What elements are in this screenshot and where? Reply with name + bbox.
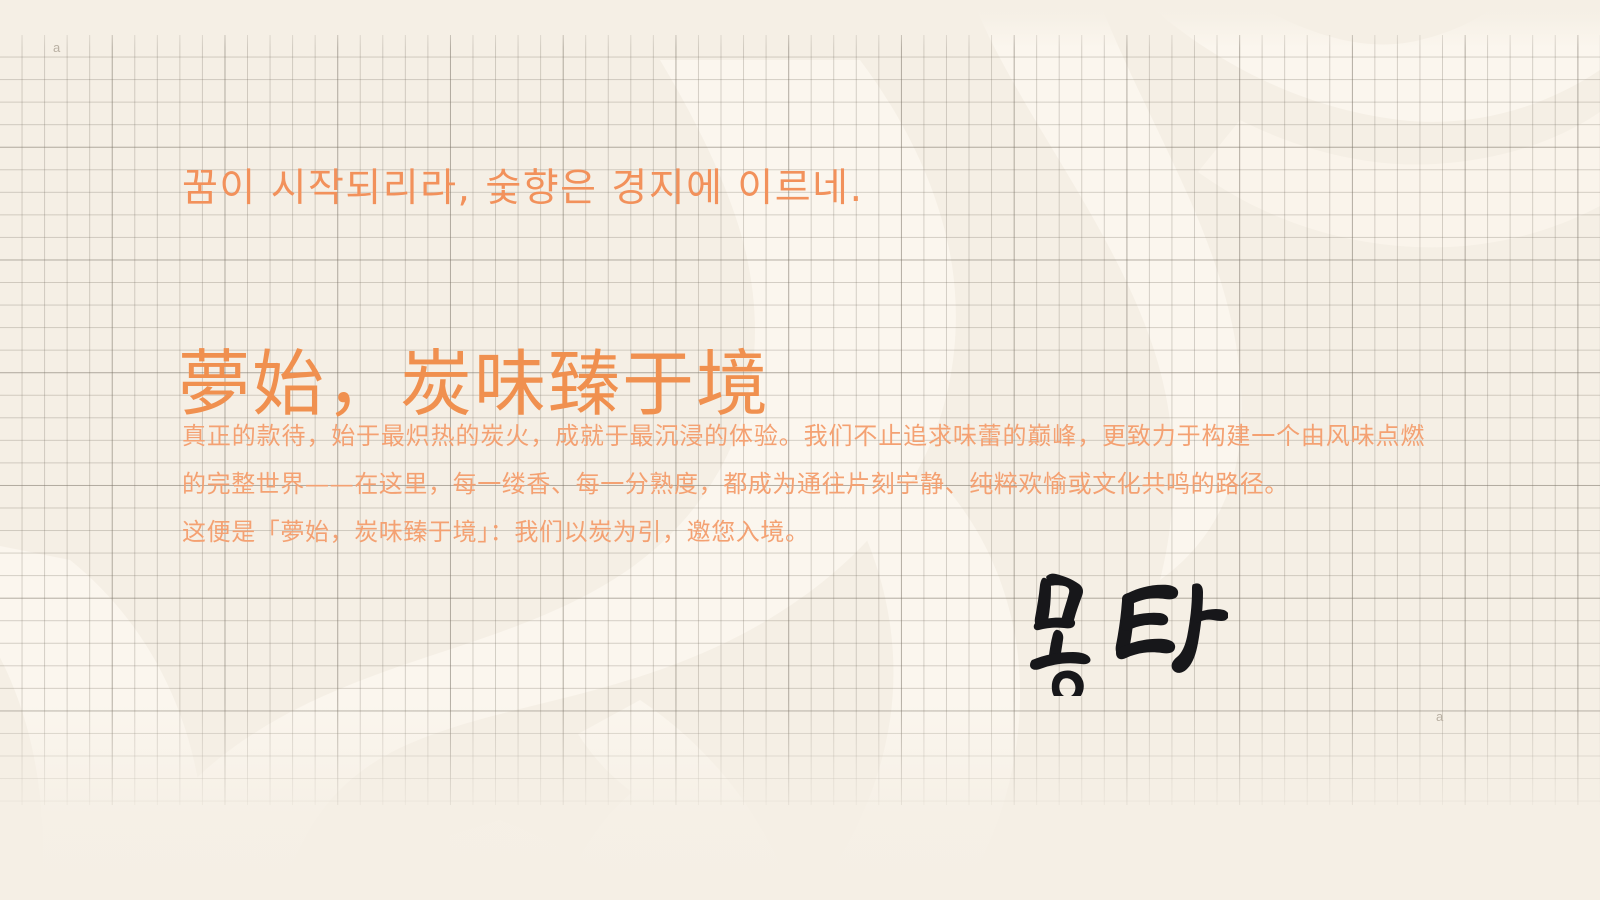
- content-block: 꿈이 시작되리라, 숯향은 경지에 이르네. 夢始，炭味臻于境 真正的款待，始于…: [182, 0, 1422, 900]
- corner-marker-bottom-right: a: [1436, 710, 1443, 723]
- body-paragraph-2: 这便是「夢始，炭味臻于境」：我们以炭为引，邀您入境。: [182, 508, 1425, 556]
- corner-marker-top-left: a: [53, 41, 60, 54]
- kicker-korean: 꿈이 시작되리라, 숯향은 경지에 이르네.: [182, 163, 863, 216]
- brand-logo: 몽탄: [1018, 568, 1228, 696]
- poster-canvas: a a 꿈이 시작되리라, 숯향은 경지에 이르네. 夢始，炭味臻于境 真正的款…: [0, 0, 1600, 900]
- body-copy: 真正的款待，始于最炽热的炭火，成就于最沉浸的体验。我们不止追求味蕾的巅峰，更致力…: [182, 412, 1425, 556]
- body-paragraph-1: 真正的款待，始于最炽热的炭火，成就于最沉浸的体验。我们不止追求味蕾的巅峰，更致力…: [182, 412, 1425, 508]
